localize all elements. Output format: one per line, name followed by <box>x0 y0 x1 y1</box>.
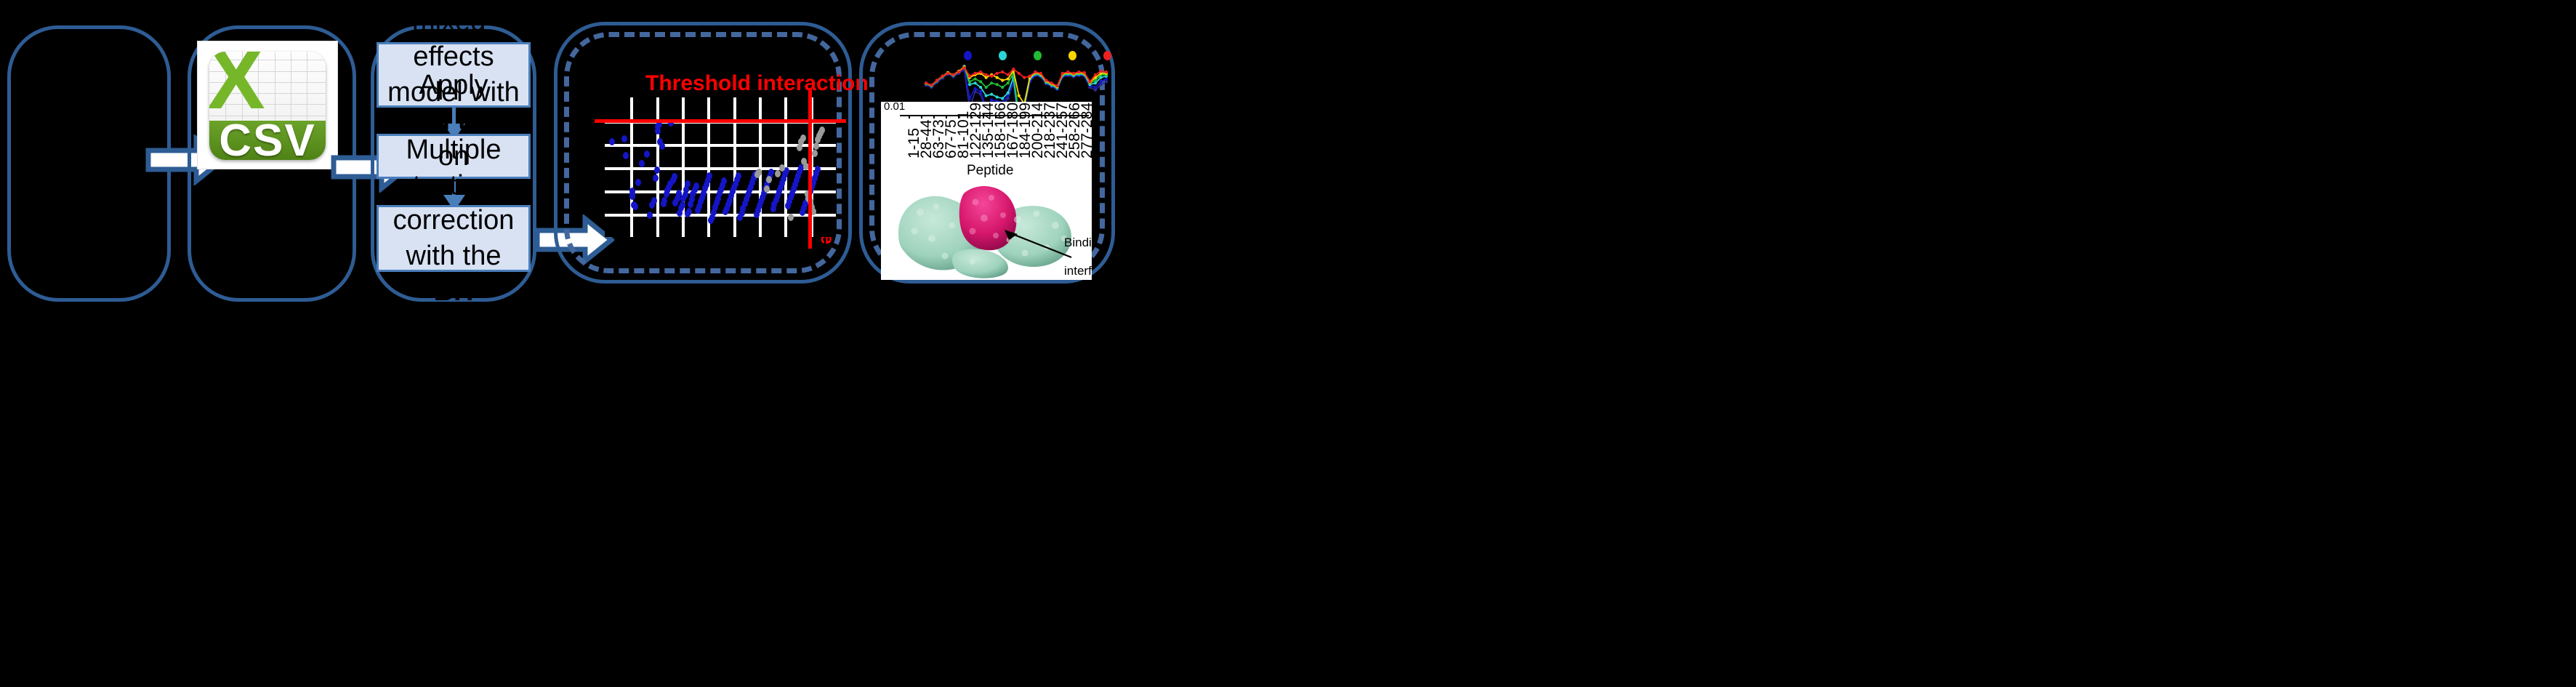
multiple-testing-box-text: Multiple testingcorrectionwith the BH pr… <box>386 132 521 345</box>
scatter-plot-area <box>605 97 836 237</box>
lineplot-marker <box>979 90 982 93</box>
scatter-point <box>788 214 794 221</box>
peptide-tick <box>909 115 910 118</box>
binding-interface-label: Binding interface <box>1064 221 1092 280</box>
peptide-tick <box>958 115 959 118</box>
lineplot-marker <box>968 97 971 100</box>
binding-interface-label-line1: Binding <box>1064 236 1092 250</box>
lineplot-marker <box>974 87 977 90</box>
lineplot-marker <box>1094 86 1097 89</box>
peptide-axis-title: Peptide <box>967 163 1013 179</box>
scatter-point <box>812 150 818 157</box>
scatter-point <box>686 208 692 215</box>
lineplot-marker <box>1001 86 1004 89</box>
csv-icon-label: CSV <box>219 115 315 160</box>
peptide-tick <box>1007 115 1009 118</box>
scatter-point <box>721 177 727 185</box>
lineplot-marker <box>1094 89 1097 92</box>
peptide-tick-labels: 1-1528-4463-7367-7581-101122-129135-1441… <box>881 116 1092 161</box>
scatter-point <box>680 201 685 209</box>
legend-dot <box>964 51 972 60</box>
scatter-point <box>813 142 819 150</box>
scatter-point <box>693 182 699 190</box>
csv-file-icon: X CSV <box>198 41 337 169</box>
scatter-gridline-v <box>682 97 685 237</box>
peptide-tick <box>995 115 997 118</box>
peptide-tick <box>1020 115 1021 118</box>
lineplot-marker <box>1001 97 1004 100</box>
lineplot-marker <box>930 84 933 87</box>
peptide-tick <box>946 115 947 118</box>
lineplot-marker <box>1055 84 1058 87</box>
scatter-point <box>803 163 809 170</box>
scatter-point <box>768 169 774 176</box>
scatter-point <box>635 179 641 186</box>
lineplot-marker <box>996 83 999 86</box>
lineplot-marker <box>985 95 988 97</box>
lineplot-marker <box>1007 77 1010 80</box>
lineplot-marker <box>990 81 993 84</box>
lineplot-marker <box>1001 79 1004 81</box>
csv-icon-footer: CSV <box>209 121 326 160</box>
lineplot-marker <box>979 86 982 89</box>
lineplot-marker <box>990 93 993 96</box>
lineplot-marker <box>979 80 982 83</box>
scatter-point <box>629 193 635 200</box>
peptide-tick <box>1069 115 1071 118</box>
scatter-point <box>654 166 660 174</box>
scatter-point <box>651 197 657 204</box>
protein-surface-structure <box>894 180 1076 278</box>
excel-x-icon: X <box>215 52 257 109</box>
scatter-point <box>800 134 806 142</box>
lineplot-marker <box>1105 77 1108 80</box>
legend-dot <box>1068 51 1076 60</box>
lineplot-marker <box>996 95 999 98</box>
scatter-point <box>632 203 638 210</box>
peptide-tick <box>1045 115 1046 118</box>
threshold-size-line <box>808 89 812 249</box>
scatter-point <box>659 142 665 150</box>
lineplot-marker <box>1094 81 1097 84</box>
peptide-tick <box>921 115 922 118</box>
volcano-threshold-scatter: Threshold interaction Threshold size <box>574 45 836 263</box>
peptide-tick <box>933 115 935 118</box>
legend-dot <box>999 51 1007 60</box>
scatter-gridline-v <box>630 97 633 237</box>
peptide-tick <box>1082 115 1083 118</box>
scatter-point <box>672 173 677 180</box>
binding-interface-label-line2: interface <box>1064 264 1092 278</box>
csv-icon-body: X CSV <box>209 52 326 160</box>
lineplot-marker <box>1045 79 1047 81</box>
scatter-point <box>661 197 667 204</box>
scatter-point <box>815 166 821 173</box>
scatter-point <box>621 135 627 142</box>
scatter-point <box>685 180 691 188</box>
lineplot-marker <box>968 83 971 86</box>
scatter-title: Threshold interaction <box>645 71 869 96</box>
scatter-point <box>779 164 785 172</box>
lineplot-marker <box>1099 80 1102 83</box>
scatter-point <box>756 169 762 176</box>
peptide-tick <box>1057 115 1058 118</box>
peptide-tick <box>1032 115 1034 118</box>
peptide-tick <box>983 115 984 118</box>
scatter-point <box>736 172 741 180</box>
scatter-point <box>623 152 629 159</box>
scatter-point <box>644 150 650 158</box>
scatter-point <box>764 185 770 193</box>
scatter-point <box>766 176 772 183</box>
scatter-gridline-v <box>733 97 736 237</box>
results-figure-card: 0.01 1-1528-4463-7367-7581-101122-129135… <box>881 102 1092 280</box>
lineplot-marker <box>1050 81 1053 84</box>
scatter-point <box>609 138 615 145</box>
scatter-point <box>707 172 712 180</box>
multiple-testing-box: Multiple testingcorrectionwith the BH pr… <box>377 205 531 272</box>
lineplot-marker <box>990 98 993 101</box>
lineplot-marker <box>1088 80 1091 83</box>
lineplot-marker <box>935 79 938 81</box>
scatter-point <box>639 160 645 167</box>
ytick-label-0: 0.01 <box>884 102 905 113</box>
scatter-point <box>653 174 659 182</box>
scatter-point <box>819 126 825 134</box>
lineplot-marker <box>1018 95 1021 97</box>
lineplot-marker <box>974 81 977 84</box>
lineplot-marker <box>1105 80 1108 83</box>
lineplot-marker <box>1007 92 1010 95</box>
lineplot-marker <box>1007 81 1010 84</box>
peptide-tick-label: 277-284 <box>1079 103 1092 158</box>
lineplot-marker <box>925 81 927 84</box>
peptide-tick <box>970 115 972 118</box>
lineplot-marker <box>985 86 988 89</box>
lineplot-marker <box>968 80 971 83</box>
lineplot-legend <box>898 48 1109 77</box>
flowchart-figure: X CSV Fit a linear mixed-effects model w… <box>0 0 2576 687</box>
legend-dot <box>1034 51 1042 60</box>
scatter-point <box>647 212 653 219</box>
legend-dot <box>1103 51 1111 60</box>
scatter-point <box>775 170 781 177</box>
lineplot-marker <box>974 77 977 80</box>
